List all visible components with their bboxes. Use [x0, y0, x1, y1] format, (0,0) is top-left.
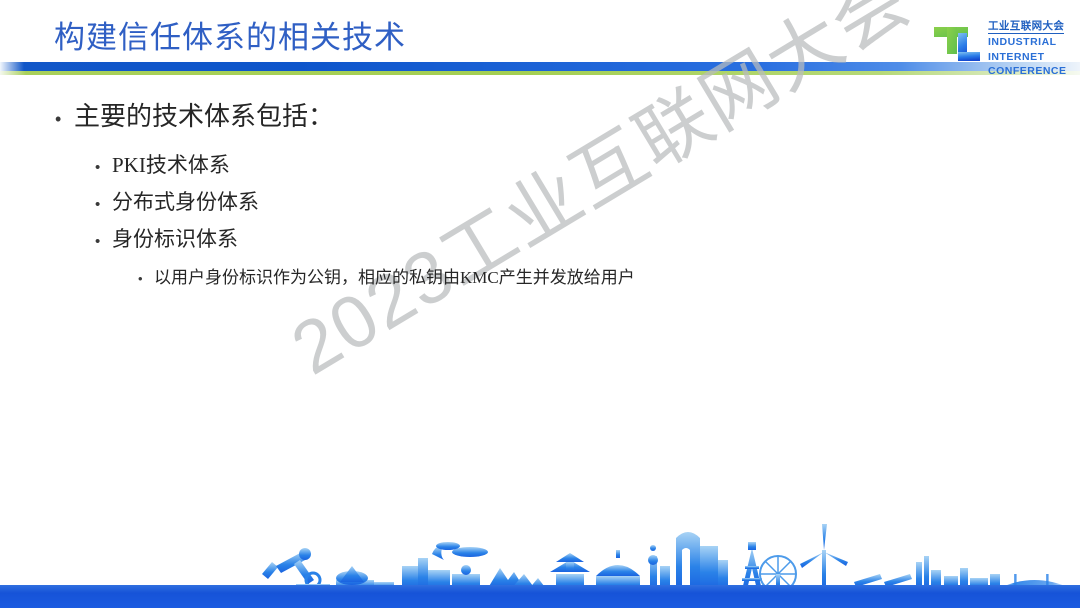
ground-band — [0, 585, 1080, 608]
logo-chinese-name: 工业互联网大会 — [988, 20, 1064, 34]
bullet-marker-icon: • — [55, 102, 74, 136]
logo-mark-icon — [930, 16, 986, 72]
bullet-marker-icon: • — [95, 188, 112, 222]
city-skyline-graphic — [0, 508, 1080, 608]
logo-en-line1: INDUSTRIAL — [988, 36, 1072, 49]
logo-wordmark: 工业互联网大会 INDUSTRIAL INTERNET CONFERENCE — [988, 16, 1072, 78]
bullet-text: 以用户身份标识作为公钥，相应的私钥由KMC产生并发放给用户 — [154, 263, 635, 293]
bullet-marker-icon: • — [95, 225, 112, 259]
bullet-text: 身份标识体系 — [112, 222, 238, 256]
title-divider-green-line — [0, 71, 1080, 75]
logo-en-line3: CONFERENCE — [988, 65, 1072, 78]
bullet-level2: • PKI技术体系 — [95, 148, 1080, 185]
title-divider-blue-bar — [0, 62, 1080, 71]
logo-en-line2: INTERNET — [988, 51, 1072, 64]
conference-logo: 工业互联网大会 INDUSTRIAL INTERNET CONFERENCE — [930, 14, 1070, 76]
bullet-level2: • 身份标识体系 — [95, 222, 1080, 259]
bullet-marker-icon: • — [138, 264, 154, 294]
presentation-slide: 构建信任体系的相关技术 — [0, 0, 1080, 608]
slide-body: • 主要的技术体系包括： • PKI技术体系 • 分布式身份体系 • 身份标识体… — [0, 100, 1080, 294]
bullet-text: PKI技术体系 — [112, 148, 230, 182]
bullet-level1: • 主要的技术体系包括： — [55, 100, 1080, 136]
bullet-level3: • 以用户身份标识作为公钥，相应的私钥由KMC产生并发放给用户 — [138, 263, 1080, 294]
bullet-level2: • 分布式身份体系 — [95, 185, 1080, 222]
page-title: 构建信任体系的相关技术 — [54, 18, 406, 58]
bullet-marker-icon: • — [95, 151, 112, 185]
bullet-text: 分布式身份体系 — [112, 185, 259, 219]
bullet-text: 主要的技术体系包括： — [74, 100, 334, 134]
